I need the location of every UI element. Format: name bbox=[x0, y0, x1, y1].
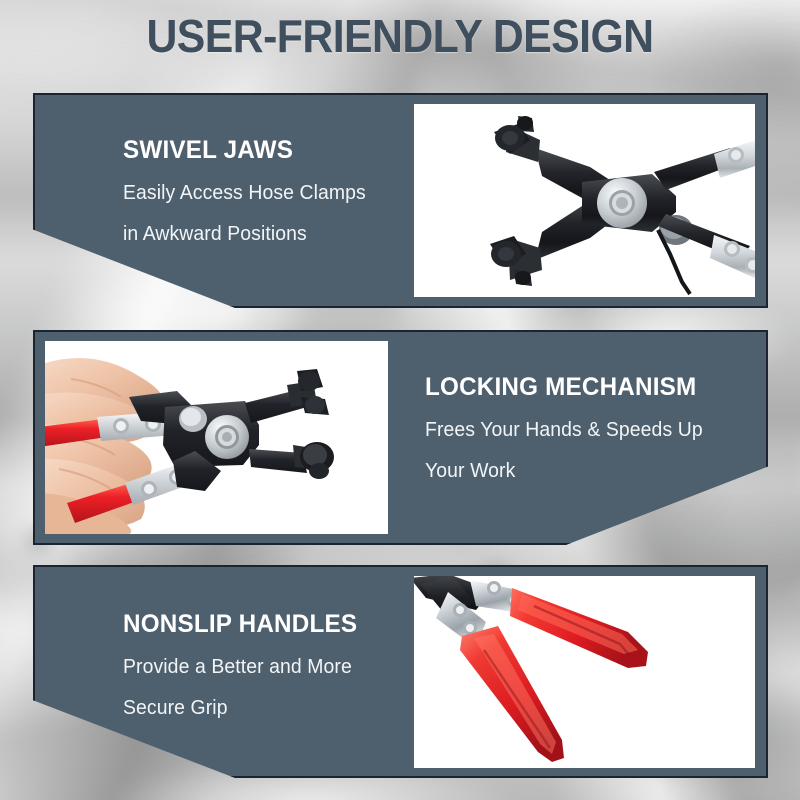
feature-line-2: Your Work bbox=[425, 451, 745, 492]
feature-image-swivel-jaws bbox=[414, 104, 755, 297]
feature-text-locking-mechanism: LOCKING MECHANISM Frees Your Hands & Spe… bbox=[425, 373, 755, 492]
feature-line-2: Secure Grip bbox=[123, 688, 414, 729]
feature-text-nonslip-handles: NONSLIP HANDLES Provide a Better and Mor… bbox=[123, 610, 423, 729]
hand-holding-pliers-illustration bbox=[45, 341, 388, 534]
feature-line-1: Frees Your Hands & Speeds Up bbox=[425, 410, 745, 451]
feature-image-locking-mechanism bbox=[45, 341, 388, 534]
feature-panel-nonslip-handles: NONSLIP HANDLES Provide a Better and Mor… bbox=[33, 565, 768, 778]
locking-pin bbox=[179, 406, 207, 432]
feature-text-swivel-jaws: SWIVEL JAWS Easily Access Hose Clamps in… bbox=[123, 136, 423, 255]
feature-line-2: in Awkward Positions bbox=[123, 214, 414, 255]
pliers-swivel-jaws-illustration bbox=[414, 104, 755, 297]
page-title: USER-FRIENDLY DESIGN bbox=[28, 11, 772, 61]
feature-line-1: Easily Access Hose Clamps bbox=[123, 173, 414, 214]
feature-heading: SWIVEL JAWS bbox=[123, 136, 414, 165]
red-handles-illustration bbox=[414, 576, 755, 768]
feature-heading: NONSLIP HANDLES bbox=[123, 610, 414, 639]
feature-panel-locking-mechanism: LOCKING MECHANISM Frees Your Hands & Spe… bbox=[33, 330, 768, 545]
feature-line-1: Provide a Better and More bbox=[123, 647, 414, 688]
feature-heading: LOCKING MECHANISM bbox=[425, 373, 745, 402]
feature-image-nonslip-handles bbox=[414, 576, 755, 768]
feature-panel-swivel-jaws: SWIVEL JAWS Easily Access Hose Clamps in… bbox=[33, 93, 768, 308]
